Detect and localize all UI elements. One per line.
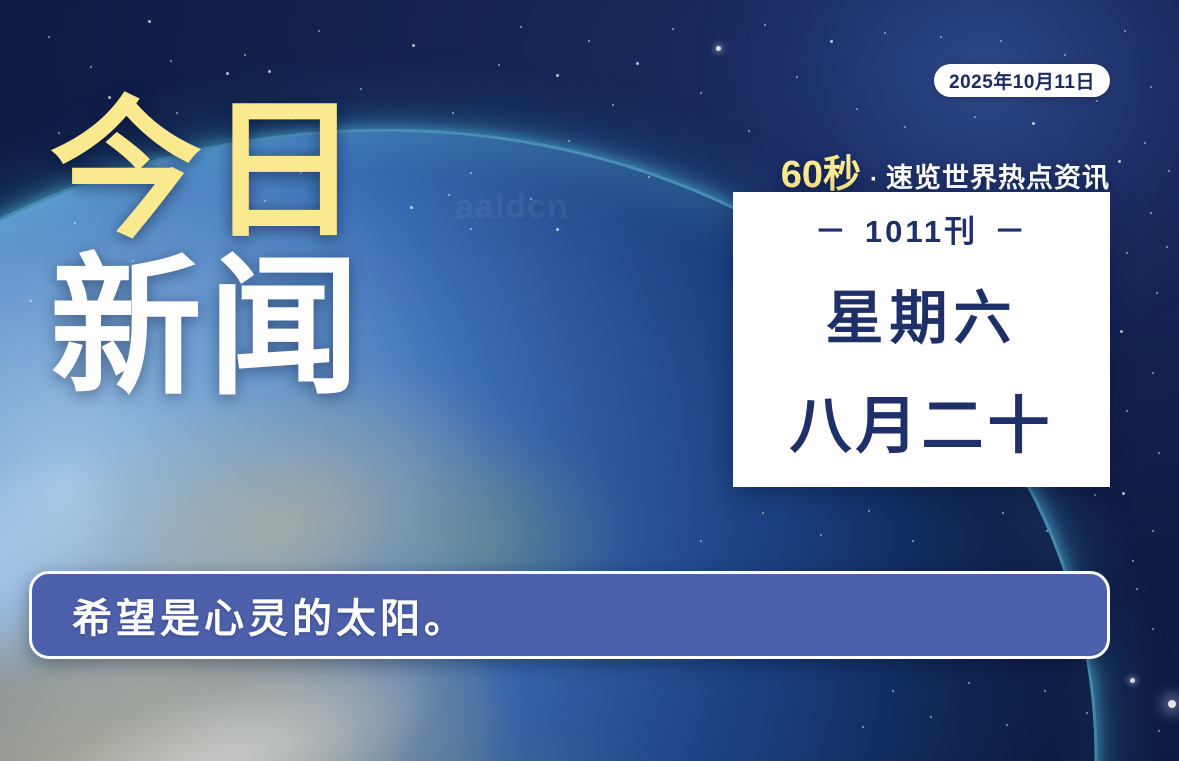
star-dot <box>648 176 650 178</box>
star-dot <box>974 116 976 118</box>
star-dot <box>748 130 750 132</box>
page-title-line-1: 今日 <box>50 100 366 243</box>
star-dot <box>448 194 450 196</box>
star-dot <box>1124 30 1126 32</box>
star-dot <box>884 32 886 34</box>
star-dot <box>470 172 472 174</box>
star-dot <box>1002 512 1004 514</box>
star-dot <box>1086 712 1088 714</box>
star-dot <box>1032 122 1035 125</box>
star-dot <box>672 28 674 30</box>
star-dot <box>968 682 970 684</box>
star-dot <box>568 140 570 142</box>
star-dot <box>716 46 721 51</box>
star-dot <box>1126 410 1128 412</box>
star-dot <box>1150 212 1152 214</box>
star-dot <box>556 74 559 77</box>
star-dot <box>856 108 858 110</box>
star-dot <box>170 60 172 62</box>
star-dot <box>1094 494 1096 496</box>
tagline-separator: · <box>864 166 883 194</box>
star-dot <box>1044 690 1046 692</box>
star-dot <box>1096 100 1098 102</box>
star-dot <box>1136 588 1138 590</box>
tagline-seconds: 60秒 <box>781 143 861 198</box>
issue-number: 1011刊 <box>865 206 978 251</box>
star-dot <box>1132 560 1134 562</box>
issue-info-card: － 1011刊 － 星期六 八月二十 <box>733 192 1110 487</box>
star-dot <box>762 512 764 514</box>
star-dot <box>1120 330 1123 333</box>
quote-banner: 希望是心灵的太阳。 <box>29 571 1110 659</box>
star-dot <box>1152 530 1154 532</box>
star-dot <box>30 300 32 302</box>
star-dot <box>1046 530 1048 532</box>
star-dot <box>1064 54 1066 56</box>
page-title: 今日 新闻 <box>50 100 366 400</box>
star-dot <box>892 690 894 692</box>
star-dot <box>1168 700 1176 708</box>
page-title-line-2: 新闻 <box>50 257 366 400</box>
star-dot <box>930 716 932 718</box>
star-dot <box>796 76 798 78</box>
star-dot <box>268 70 271 73</box>
star-dot <box>636 62 639 65</box>
star-dot <box>318 30 320 32</box>
star-dot <box>1158 730 1160 732</box>
star-dot <box>904 126 906 128</box>
star-dot <box>226 72 229 75</box>
issue-row: － 1011刊 － <box>815 206 1028 251</box>
star-dot <box>498 64 500 66</box>
quote-text: 希望是心灵的太阳。 <box>72 586 468 644</box>
star-dot <box>912 540 914 542</box>
star-dot <box>1166 246 1168 248</box>
star-dot <box>556 228 559 231</box>
star-dot <box>148 20 151 23</box>
star-dot <box>1152 628 1154 630</box>
star-dot <box>1118 160 1121 163</box>
news-poster: aaldcn 今日 新闻 2025年10月11日 60秒 · 速览世界热点资讯 … <box>0 0 1179 761</box>
star-dot <box>410 206 413 209</box>
lunar-date-label: 八月二十 <box>789 375 1053 465</box>
star-dot <box>700 92 702 94</box>
star-dot <box>1122 492 1125 495</box>
star-dot <box>1152 372 1154 374</box>
star-dot <box>412 44 415 47</box>
watermark-text: aaldcn <box>455 188 569 227</box>
star-dot <box>470 228 472 230</box>
date-badge: 2025年10月11日 <box>934 64 1110 97</box>
star-dot <box>1126 252 1128 254</box>
star-dot <box>48 36 50 38</box>
star-dot <box>764 24 766 26</box>
star-dot <box>452 112 454 114</box>
star-dot <box>868 510 870 512</box>
star-dot <box>1156 292 1158 294</box>
star-dot <box>1000 40 1002 42</box>
star-dot <box>1144 142 1146 144</box>
star-dot <box>700 540 702 542</box>
star-dot <box>244 54 246 56</box>
issue-dash-left: － <box>815 206 849 251</box>
star-dot <box>1158 452 1160 454</box>
star-dot <box>830 40 833 43</box>
star-dot <box>862 726 864 728</box>
weekday-label: 星期六 <box>825 271 1017 355</box>
star-dot <box>1168 170 1170 172</box>
star-dot <box>1130 678 1135 683</box>
issue-dash-right: － <box>994 206 1028 251</box>
star-dot <box>520 26 522 28</box>
tagline: 60秒 · 速览世界热点资讯 <box>781 143 1110 198</box>
star-dot <box>612 104 614 106</box>
star-dot <box>820 534 822 536</box>
star-dot <box>1150 86 1152 88</box>
star-dot <box>940 36 942 38</box>
tagline-text: 速览世界热点资讯 <box>886 156 1110 195</box>
star-dot <box>588 40 590 42</box>
star-dot <box>1006 724 1008 726</box>
star-dot <box>90 66 92 68</box>
